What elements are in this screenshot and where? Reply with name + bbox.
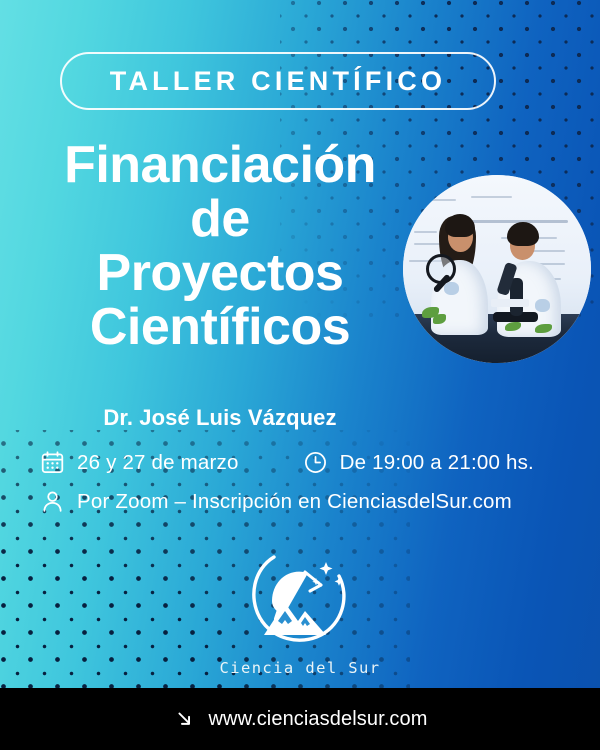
footer-website-url[interactable]: www.cienciasdelsur.com	[209, 708, 428, 731]
event-details: 26 y 27 de marzo De 19:00 a 21:00 hs. Po…	[40, 450, 560, 528]
detail-time-text: De 19:00 a 21:00 hs.	[340, 451, 534, 475]
speaker-name: Dr. José Luis Vázquez	[24, 405, 416, 431]
detail-registration: Por Zoom – Inscripción en CienciasdelSur…	[40, 489, 512, 514]
detail-row-registration: Por Zoom – Inscripción en CienciasdelSur…	[40, 489, 560, 514]
calendar-icon	[40, 450, 65, 475]
detail-row-datetime: 26 y 27 de marzo De 19:00 a 21:00 hs.	[40, 450, 560, 475]
workshop-badge: TALLER CIENTÍFICO	[60, 52, 496, 110]
lab-students-photo	[403, 175, 591, 363]
title-line-1: Financiación	[24, 138, 416, 192]
poster-canvas: TALLER CIENTÍFICO Financiación de Proyec…	[0, 0, 600, 750]
brand-logo: Ciencia del Sur	[0, 545, 600, 677]
workshop-badge-label: TALLER CIENTÍFICO	[110, 66, 446, 97]
page-title: Financiación de Proyectos Científicos	[24, 138, 416, 354]
footer-bar: www.cienciasdelsur.com	[0, 688, 600, 750]
detail-time: De 19:00 a 21:00 hs.	[303, 450, 534, 475]
title-line-3: Proyectos	[24, 246, 416, 300]
person-icon	[40, 489, 65, 514]
clock-icon	[303, 450, 328, 475]
arrow-down-right-icon	[173, 708, 195, 730]
brand-name: Ciencia del Sur	[220, 659, 381, 677]
detail-date: 26 y 27 de marzo	[40, 450, 239, 475]
detail-date-text: 26 y 27 de marzo	[77, 451, 239, 475]
title-line-4: Científicos	[24, 300, 416, 354]
satellite-dish-mountains-icon	[242, 545, 358, 655]
detail-registration-text: Por Zoom – Inscripción en CienciasdelSur…	[77, 490, 512, 514]
title-line-2: de	[24, 192, 416, 246]
